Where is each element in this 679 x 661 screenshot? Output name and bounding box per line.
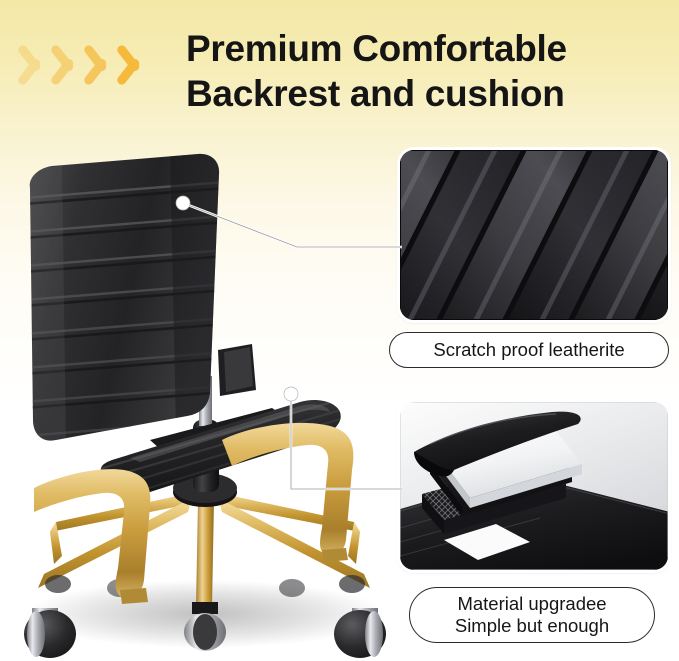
caption-pill-material-upgrade: Material upgradee Simple but enough (409, 587, 655, 643)
title-line-1: Premium Comfortable (186, 28, 567, 69)
product-infographic-poster: Premium Comfortable Backrest and cushion (0, 0, 679, 661)
material-layers-photo (400, 402, 668, 570)
caption-pill-scratch-proof: Scratch proof leatherite (389, 332, 669, 368)
header-banner: Premium Comfortable Backrest and cushion (0, 0, 679, 140)
ribbed-backrest (24, 146, 232, 441)
page-title: Premium Comfortable Backrest and cushion (186, 26, 666, 116)
chevron-arrow-group (30, 38, 180, 90)
ribbed-leather-closeup-photo (400, 150, 668, 320)
caption-pill-top-label: Scratch proof leatherite (433, 339, 624, 361)
caption-pill-bottom-line-1: Material upgradee (457, 593, 606, 615)
chevron-right-icon (129, 38, 163, 90)
caption-pill-bottom-line-2: Simple but enough (455, 615, 609, 637)
product-image-office-chair (0, 140, 400, 661)
title-line-2: Backrest and cushion (186, 71, 666, 116)
